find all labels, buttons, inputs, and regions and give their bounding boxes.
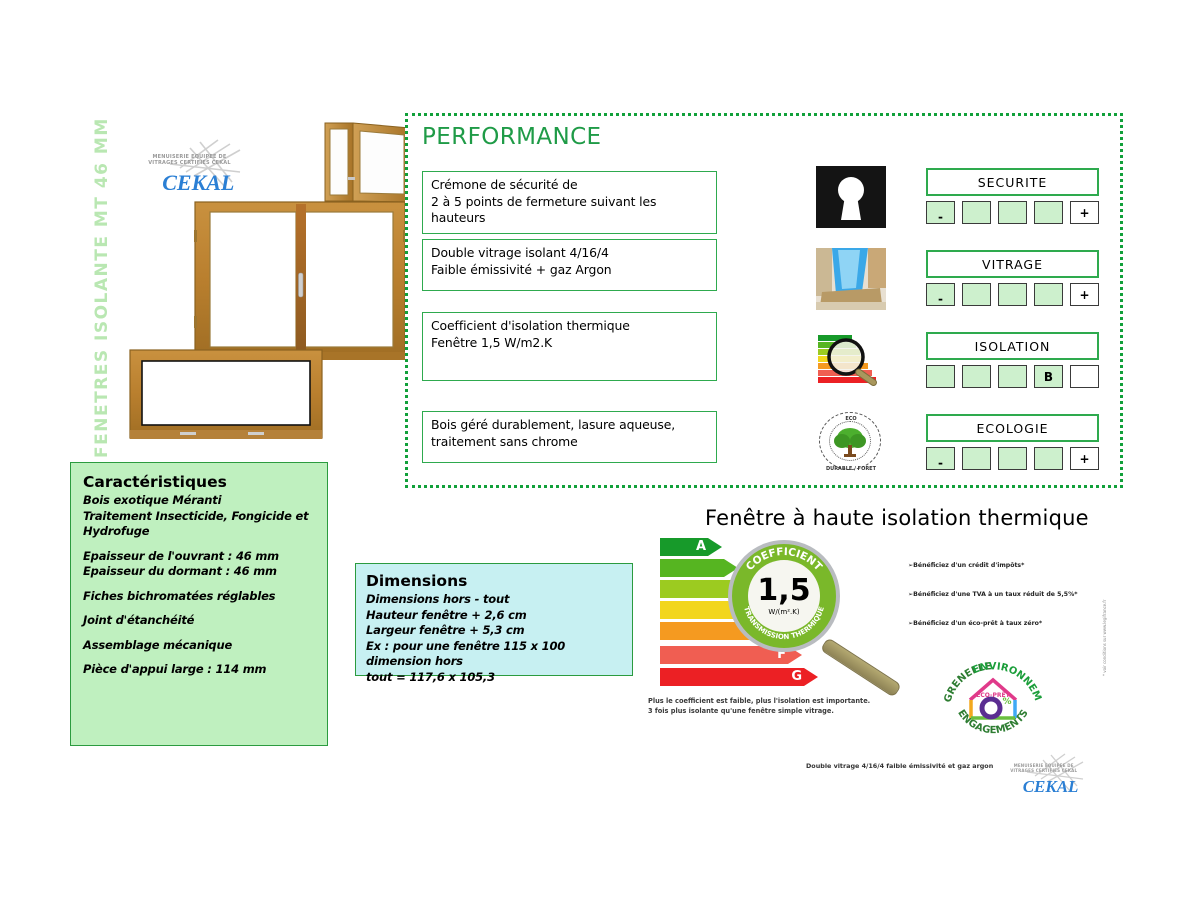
energy-caption: Plus le coefficient est faible, plus l'i… (648, 697, 898, 716)
energy-caption-line: 3 fois plus isolante qu'une fenêtre simp… (648, 707, 898, 717)
rating-row-securite: SECURITE - + (816, 166, 1106, 228)
perf-line: Double vitrage isolant 4/16/4 (431, 245, 708, 262)
rating-pip[interactable]: + (1070, 283, 1099, 306)
rating-pip[interactable]: - (926, 283, 955, 306)
rating-pip[interactable] (1034, 447, 1063, 470)
svg-text:ENGAGEMENTS: ENGAGEMENTS (955, 708, 1030, 734)
rating-pip[interactable]: - (926, 201, 955, 224)
rating-pip[interactable]: + (1070, 447, 1099, 470)
cekal-wordmark: CEKAL (1014, 777, 1088, 797)
window-photo-group-icon (120, 120, 410, 440)
performance-box-ecology: Bois géré durablement, lasure aqueuse, t… (422, 411, 717, 463)
rating-pips-securite: - + (926, 201, 1099, 224)
coefficient-magnifier: COEFFICIENT TRANSMISSION THERMIQUE 1,5 W… (728, 540, 840, 652)
rating-pip[interactable] (998, 201, 1027, 224)
rating-pip[interactable] (962, 201, 991, 224)
rating-row-vitrage: VITRAGE - + (816, 248, 1106, 310)
rating-pip[interactable] (1034, 283, 1063, 306)
perf-line: traitement sans chrome (431, 434, 708, 451)
rating-row-ecologie: ECO DURABLE / FORET ECOLOGIE - (816, 412, 1106, 474)
rating-row-isolation: ISOLATION B (816, 330, 1106, 392)
grenelle-environnement-logo: GRENELLE ENVIRONNEMENT ENGAGEMENTS ECO-P… (944, 652, 1042, 734)
carac-line: Assemblage mécanique (83, 638, 315, 654)
stamp-bottom-text: DURABLE / FORET (818, 466, 884, 472)
rating-label: SECURITE (926, 168, 1099, 196)
carac-line: Hydrofuge (83, 524, 315, 540)
perf-line: 2 à 5 points de fermeture suivant les (431, 194, 708, 211)
window-glazing-icon (816, 248, 886, 310)
legal-note: * voir conditions sur www.legifrance.fr (1092, 568, 1108, 678)
coefficient-value-circle: 1,5 W/(m².K) (748, 560, 820, 632)
promo-footnote: Double vitrage 4/16/4 faible émissivité … (806, 762, 993, 770)
perf-line: Coefficient d'isolation thermique (431, 318, 708, 335)
svg-text:%: % (1002, 697, 1011, 707)
dimensions-line: Dimensions hors - tout (366, 592, 622, 608)
carac-line: Bois exotique Méranti (83, 493, 315, 509)
promo-bullet: ➢Bénéficiez d'un crédit d'impôts* (908, 562, 1093, 570)
rating-pip[interactable]: + (1070, 201, 1099, 224)
performance-box-glazing: Double vitrage isolant 4/16/4 Faible émi… (422, 239, 717, 291)
performance-panel: PERFORMANCE Crémone de sécurité de 2 à 5… (405, 113, 1123, 488)
datasheet-page: FENETRES ISOLANTE MT 46 MM MENUISERIE EQ… (0, 0, 1202, 901)
carac-line: Pièce d'appui large : 114 mm (83, 662, 315, 678)
rating-pip[interactable] (998, 283, 1027, 306)
rating-label: VITRAGE (926, 250, 1099, 278)
energy-magnifier-icon (816, 330, 886, 392)
rating-pip[interactable]: - (926, 447, 955, 470)
rating-pip[interactable] (962, 283, 991, 306)
energy-bar-B (660, 559, 738, 577)
rating-pip[interactable] (1070, 365, 1099, 388)
perf-line: Crémone de sécurité de (431, 177, 708, 194)
rating-pip[interactable] (1034, 201, 1063, 224)
caracteristiques-title: Caractéristiques (83, 473, 315, 491)
carac-line: Joint d'étanchéité (83, 613, 315, 629)
dimensions-line: Ex : pour une fenêtre 115 x 100 dimensio… (366, 639, 622, 670)
performance-box-security: Crémone de sécurité de 2 à 5 points de f… (422, 171, 717, 234)
cekal-tagline: MENUISERIE EQUIPEE DE VITRAGES CERTIFIES… (1010, 764, 1077, 773)
perf-line: hauteurs (431, 210, 708, 227)
vertical-product-title: FENETRES ISOLANTE MT 46 MM (62, 130, 102, 460)
rating-pip[interactable] (926, 365, 955, 388)
coefficient-value: 1,5 (757, 577, 810, 605)
performance-box-insulation: Coefficient d'isolation thermique Fenêtr… (422, 312, 717, 381)
rating-pip[interactable] (962, 365, 991, 388)
dimensions-card: Dimensions Dimensions hors - tout Hauteu… (355, 563, 633, 676)
carac-line: Fiches bichromatées réglables (83, 589, 315, 605)
caracteristiques-card: Caractéristiques Bois exotique Méranti T… (70, 462, 328, 746)
dimensions-title: Dimensions (366, 572, 622, 590)
window-illustrations (120, 120, 410, 440)
energy-bar-A: A (660, 538, 722, 556)
keyhole-icon (816, 166, 886, 228)
rating-pip[interactable] (962, 447, 991, 470)
perf-line: Faible émissivité + gaz Argon (431, 262, 708, 279)
energy-caption-line: Plus le coefficient est faible, plus l'i… (648, 697, 898, 707)
dimensions-line: Hauteur fenêtre + 2,6 cm (366, 608, 622, 624)
carac-line: Epaisseur du dormant : 46 mm (83, 564, 315, 580)
carac-line: Epaisseur de l'ouvrant : 46 mm (83, 549, 315, 565)
carac-line: Traitement Insecticide, Fongicide et (83, 509, 315, 525)
dimensions-line: Largeur fenêtre + 5,3 cm (366, 623, 622, 639)
promo-title: Fenêtre à haute isolation thermique (705, 506, 1105, 530)
cekal-logo-bottom: MENUISERIE EQUIPEE DE VITRAGES CERTIFIES… (1005, 752, 1091, 800)
promo-bullet: ➢Bénéficiez d'un éco-prêt à taux zéro* (908, 620, 1093, 628)
performance-heading: PERFORMANCE (422, 124, 601, 150)
energy-bar-letter: G (791, 669, 802, 684)
rating-label: ISOLATION (926, 332, 1099, 360)
promo-bullets: ➢Bénéficiez d'un crédit d'impôts* ➢Bénéf… (908, 562, 1093, 649)
promo-bullet: ➢Bénéficiez d'une TVA à un taux réduit d… (908, 591, 1093, 599)
eco-stamp-icon: ECO DURABLE / FORET (816, 412, 886, 474)
coefficient-unit: W/(m².K) (768, 608, 799, 616)
perf-line: Bois géré durablement, lasure aqueuse, (431, 417, 708, 434)
rating-pip-active[interactable]: B (1034, 365, 1063, 388)
rating-pips-isolation: B (926, 365, 1099, 388)
rating-pips-ecologie: - + (926, 447, 1099, 470)
rating-pips-vitrage: - + (926, 283, 1099, 306)
tree-icon (818, 412, 884, 474)
rating-pip[interactable] (998, 447, 1027, 470)
perf-line: Fenêtre 1,5 W/m2.K (431, 335, 708, 352)
rating-pip[interactable] (998, 365, 1027, 388)
rating-label: ECOLOGIE (926, 414, 1099, 442)
dimensions-line: tout = 117,6 x 105,3 (366, 670, 622, 686)
energy-bar-letter: A (696, 539, 706, 554)
energy-bar-G: G (660, 668, 818, 686)
